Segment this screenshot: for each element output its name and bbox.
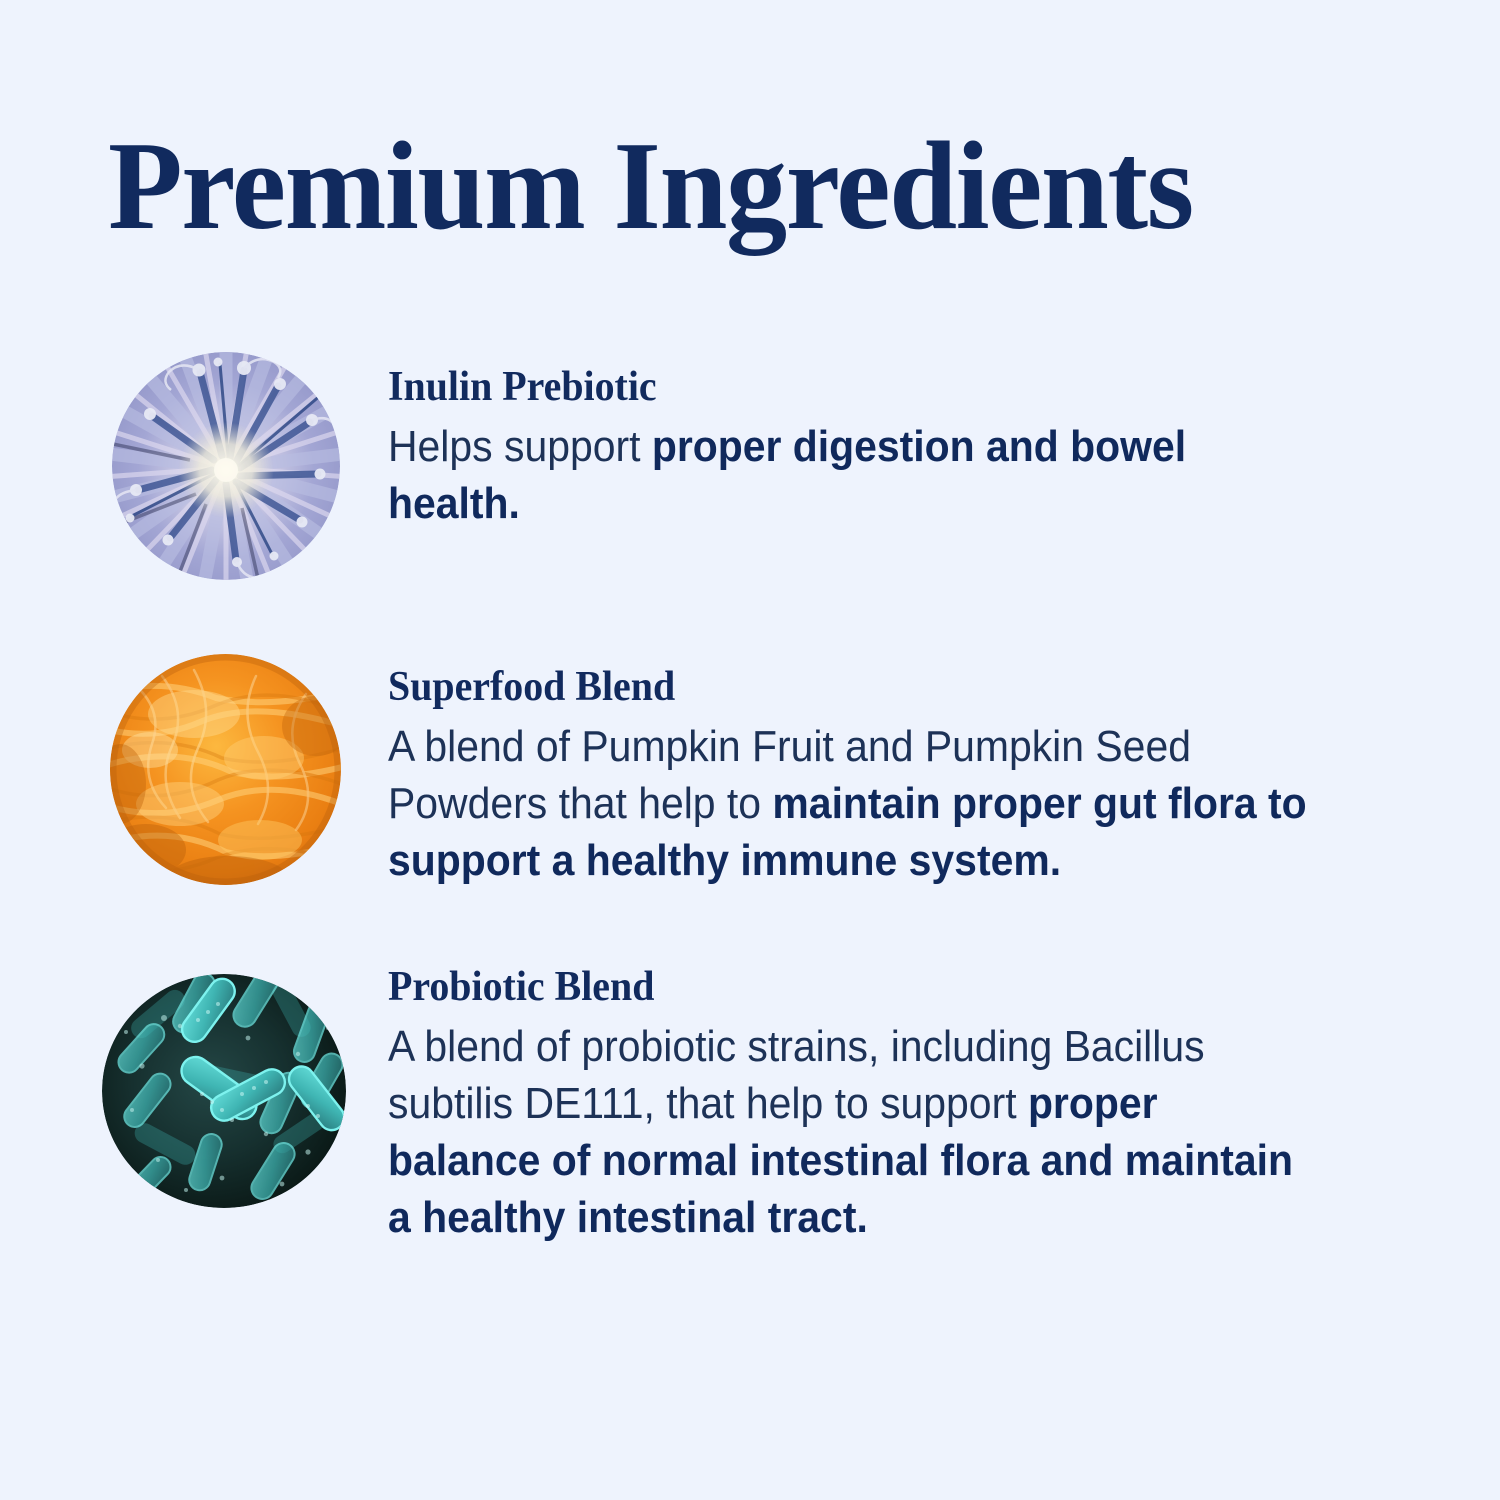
ingredient-description: A blend of probiotic strains, including …	[388, 1018, 1309, 1246]
description-lead: Helps support	[388, 422, 652, 471]
chicory-flower-photo	[112, 352, 340, 580]
ingredient-heading: Probiotic Blend	[388, 966, 1329, 1008]
probiotic-bacteria-photo	[102, 974, 346, 1208]
page-title: Premium Ingredients	[108, 124, 1193, 250]
ingredient-description: Helps support proper digestion and bowel…	[388, 418, 1309, 532]
list-item: Superfood Blend A blend of Pumpkin Fruit…	[0, 644, 1500, 956]
ingredient-copy: Inulin Prebiotic Helps support proper di…	[388, 352, 1378, 532]
ingredient-description: A blend of Pumpkin Fruit and Pumpkin See…	[388, 718, 1309, 889]
ingredient-heading: Inulin Prebiotic	[388, 366, 1329, 408]
ingredient-heading: Superfood Blend	[388, 666, 1329, 708]
ingredient-copy: Probiotic Blend A blend of probiotic str…	[388, 956, 1378, 1246]
infographic-page: Premium Ingredients	[0, 0, 1500, 1500]
list-item: Probiotic Blend A blend of probiotic str…	[0, 956, 1500, 1256]
pumpkin-flesh-photo	[110, 654, 341, 885]
list-item: Inulin Prebiotic Helps support proper di…	[0, 352, 1500, 644]
ingredient-list: Inulin Prebiotic Helps support proper di…	[0, 352, 1500, 1256]
ingredient-copy: Superfood Blend A blend of Pumpkin Fruit…	[388, 644, 1378, 889]
